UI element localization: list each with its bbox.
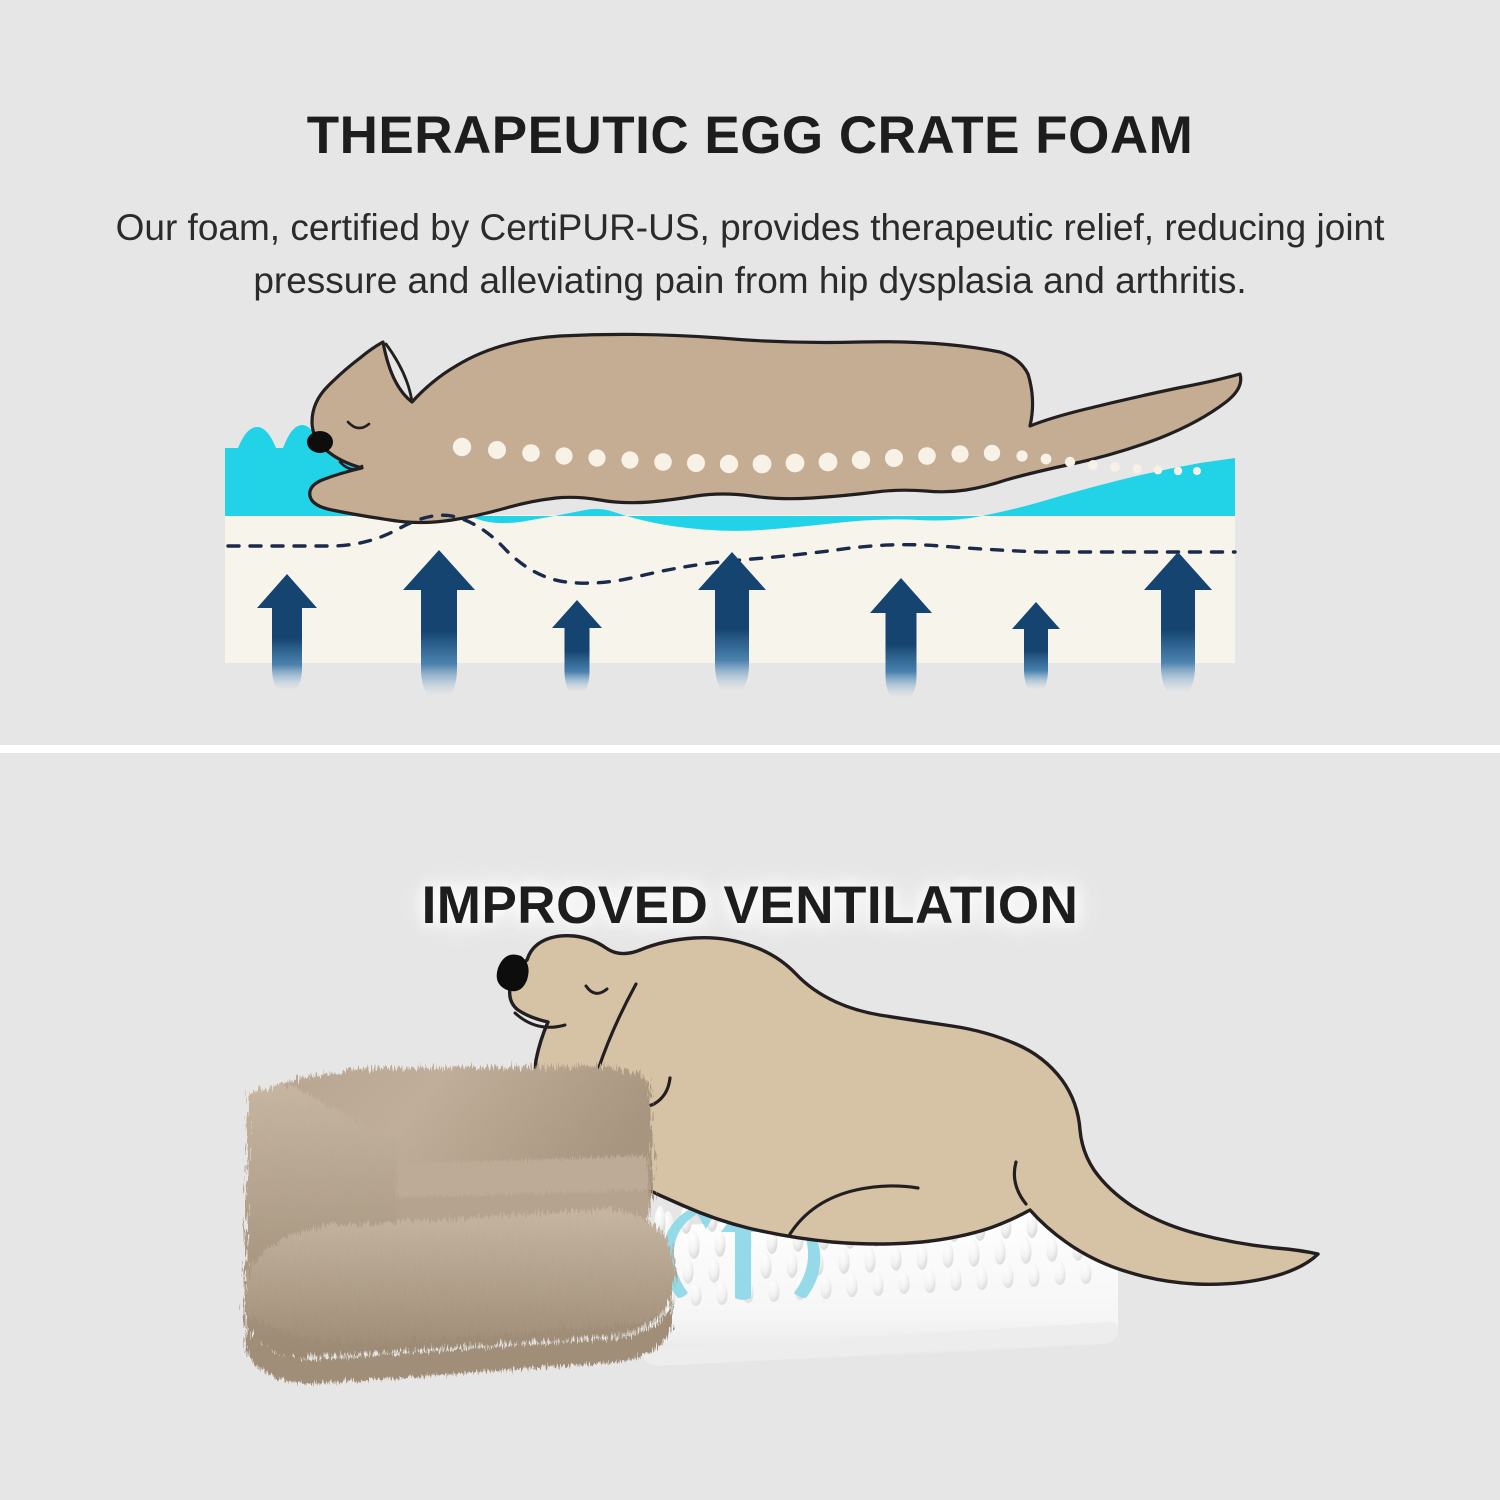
dog-nose-top <box>307 431 333 453</box>
ventilation-illustration <box>0 898 1500 1498</box>
therapeutic-description: Our foam, certified by CertiPUR-US, prov… <box>55 202 1445 307</box>
panel-divider <box>0 745 1500 753</box>
page-title: THERAPEUTIC EGG CRATE FOAM <box>0 108 1500 164</box>
panel-improved-ventilation: IMPROVED VENTILATION <box>0 753 1500 1500</box>
product-infographic: THERAPEUTIC EGG CRATE FOAM Our foam, cer… <box>0 0 1500 1500</box>
panel-therapeutic-foam: THERAPEUTIC EGG CRATE FOAM Our foam, cer… <box>0 0 1500 745</box>
dog-nose-bottom-shape <box>497 955 529 992</box>
foam-cross-section-illustration <box>0 330 1500 730</box>
plush-bolster-bed <box>244 1066 675 1384</box>
